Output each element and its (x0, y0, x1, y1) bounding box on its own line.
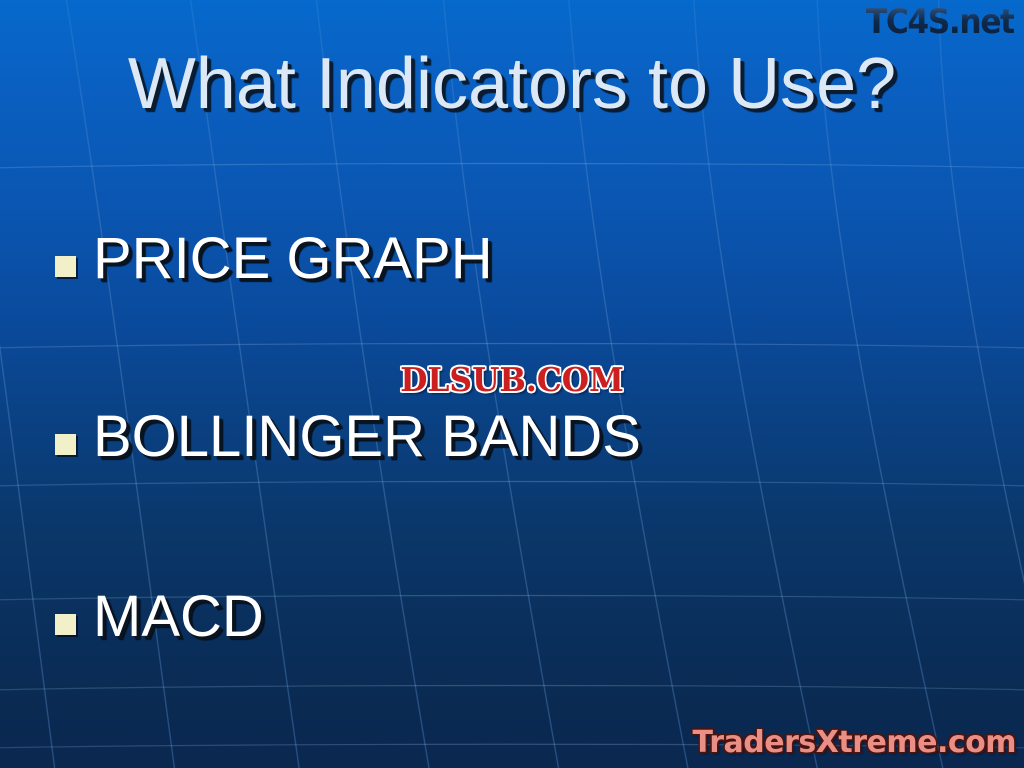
bullet-label: MACD (93, 586, 264, 649)
square-bullet-icon (55, 434, 76, 455)
square-bullet-icon (55, 256, 76, 277)
bullet-label: BOLLINGER BANDS (93, 406, 641, 469)
list-item: BOLLINGER BANDS (55, 406, 641, 469)
watermark-tc4s: TC4S.net (866, 2, 1014, 42)
square-bullet-icon (55, 614, 76, 635)
list-item: PRICE GRAPH (55, 228, 493, 291)
presentation-slide: What Indicators to Use? PRICE GRAPH BOLL… (0, 0, 1024, 768)
list-item: MACD (55, 586, 264, 649)
bullet-label: PRICE GRAPH (93, 228, 493, 291)
watermark-tradersxtreme: TradersXtreme.com (693, 725, 1016, 760)
watermark-dlsub: DLSUB.COM (26, 360, 999, 399)
